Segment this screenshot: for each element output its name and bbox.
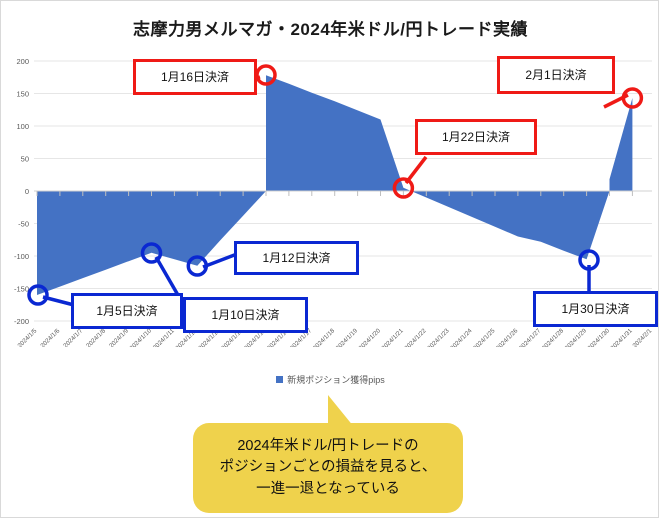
callout-jan16[interactable]: 1月16日決済 (133, 59, 257, 95)
callout-jan16-label: 1月16日決済 (161, 71, 229, 83)
x-tick-label: 2024/1/24 (449, 327, 474, 347)
x-tick-label: 2024/1/7 (62, 327, 84, 347)
chart-legend[interactable]: 新規ポジション獲得pips (1, 373, 659, 386)
callout-jan30[interactable]: 1月30日決済 (533, 291, 658, 327)
x-tick-label: 2024/1/28 (541, 327, 566, 347)
x-tick-label: 2024/1/21 (380, 327, 405, 347)
callout-jan22-label: 1月22日決済 (442, 131, 510, 143)
callout-jan12-label: 1月12日決済 (262, 252, 330, 264)
bubble-line-3: 一進一退となっている (256, 479, 400, 500)
legend-label: 新規ポジション獲得pips (287, 375, 385, 385)
callout-jan05[interactable]: 1月5日決済 (71, 293, 183, 329)
x-tick-label: 2024/1/19 (335, 327, 360, 347)
y-tick-label: -100 (14, 252, 29, 261)
x-tick-label: 2024/2/1 (631, 327, 653, 347)
y-axis-ticks: 200 150 100 50 0 -50 -100 -150 -200 (14, 57, 29, 326)
y-tick-label: 100 (16, 122, 29, 131)
x-tick-label: 2024/1/29 (564, 327, 589, 347)
callout-jan22[interactable]: 1月22日決済 (415, 119, 537, 155)
x-tick-label: 2024/1/22 (403, 327, 428, 347)
x-tick-label: 2024/1/26 (495, 327, 520, 347)
x-tick-label: 2024/1/9 (108, 327, 130, 347)
x-axis-ticks: 2024/1/5 2024/1/6 2024/1/7 2024/1/8 2024… (16, 327, 653, 347)
x-tick-label: 2024/1/25 (472, 327, 497, 347)
x-tick-label: 2024/1/5 (16, 327, 38, 347)
callout-jan10[interactable]: 1月10日決済 (183, 297, 308, 333)
bubble-line-2: ポジションごとの損益を見ると、 (220, 457, 437, 478)
x-tick-label: 2024/1/23 (426, 327, 451, 347)
legend-swatch-icon (276, 376, 283, 383)
chart-screenshot: 志摩力男メルマガ・2024年米ドル/円トレード実績 200 150 100 50 (0, 0, 659, 518)
y-tick-label: -150 (14, 285, 29, 294)
page-title: 志摩力男メルマガ・2024年米ドル/円トレード実績 (1, 15, 659, 40)
callout-feb01-label: 2月1日決済 (525, 69, 586, 81)
y-tick-label: 200 (16, 57, 29, 66)
y-tick-label: 50 (21, 155, 29, 164)
y-tick-label: 0 (25, 187, 29, 196)
y-tick-label: -200 (14, 317, 29, 326)
callout-jan10-label: 1月10日決済 (211, 309, 279, 321)
x-tick-label: 2024/1/27 (518, 327, 543, 347)
x-tick-label: 2024/1/18 (312, 327, 337, 347)
x-tick-label: 2024/1/10 (128, 327, 153, 347)
x-tick-label: 2024/1/20 (357, 327, 382, 347)
speech-bubble: 2024年米ドル/円トレードの ポジションごとの損益を見ると、 一進一退となって… (193, 423, 463, 513)
callout-jan30-label: 1月30日決済 (561, 303, 629, 315)
x-tick-label: 2024/1/6 (39, 327, 61, 347)
x-tick-label: 2024/1/8 (85, 327, 107, 347)
y-tick-label: 150 (16, 90, 29, 99)
x-tick-label: 2024/1/30 (586, 327, 611, 347)
callout-jan12[interactable]: 1月12日決済 (234, 241, 359, 275)
bubble-line-1: 2024年米ドル/円トレードの (237, 436, 418, 457)
x-tick-label: 2024/1/11 (152, 327, 176, 347)
y-tick-label: -50 (18, 220, 29, 229)
x-tick-label: 2024/1/31 (609, 327, 634, 347)
callout-jan05-label: 1月5日決済 (96, 305, 157, 317)
callout-feb01[interactable]: 2月1日決済 (497, 56, 615, 94)
